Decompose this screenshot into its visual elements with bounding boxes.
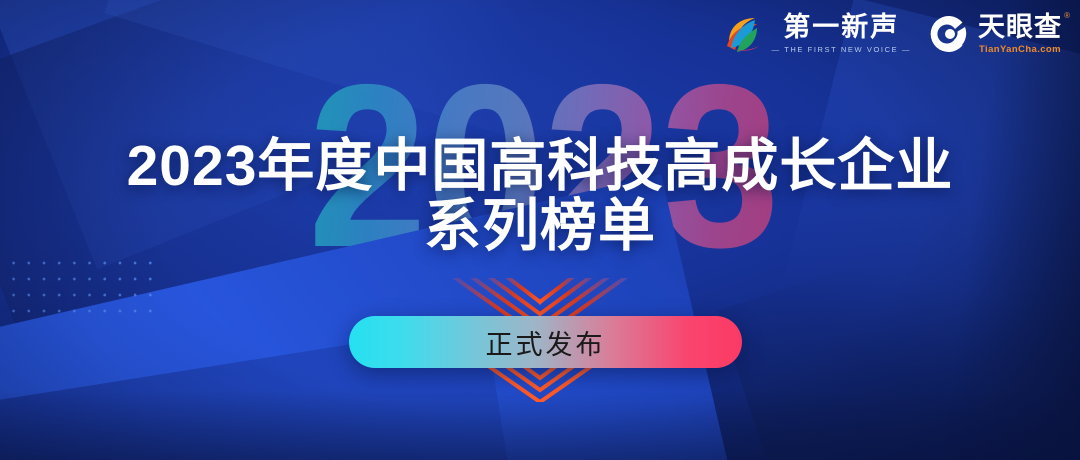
dot-grid-icon <box>6 255 154 317</box>
header-logos: 第一新声 — THE FIRST NEW VOICE — 天眼查® TianYa… <box>721 12 1062 56</box>
diyixinsheng-tagline: — THE FIRST NEW VOICE — <box>772 45 911 54</box>
background-bottom-shade <box>0 390 1080 460</box>
chevron-bottom-decoration <box>462 362 618 402</box>
status-badge[interactable]: 正式发布 <box>349 316 742 368</box>
tianyancha-tagline: TianYanCha.com <box>979 44 1061 55</box>
registered-trademark-icon: ® <box>1064 12 1071 20</box>
tianyancha-name: 天眼查® <box>978 14 1062 41</box>
tianyancha-name-text: 天眼查 <box>978 12 1062 42</box>
tianyancha-mark-icon <box>929 13 971 55</box>
logo-diyixinsheng[interactable]: 第一新声 — THE FIRST NEW VOICE — <box>721 12 911 56</box>
title-line-2: 系列榜单 <box>0 196 1080 256</box>
diyixinsheng-mark-icon <box>721 12 765 56</box>
logo-tianyancha[interactable]: 天眼查® TianYanCha.com <box>929 13 1062 55</box>
status-badge-label: 正式发布 <box>486 323 606 362</box>
diyixinsheng-name: 第一新声 <box>783 14 899 41</box>
page-title: 2023年度中国高科技高成长企业 系列榜单 <box>0 136 1080 257</box>
promo-banner: 2023 <box>0 0 1080 460</box>
title-line-1: 2023年度中国高科技高成长企业 <box>0 136 1080 196</box>
